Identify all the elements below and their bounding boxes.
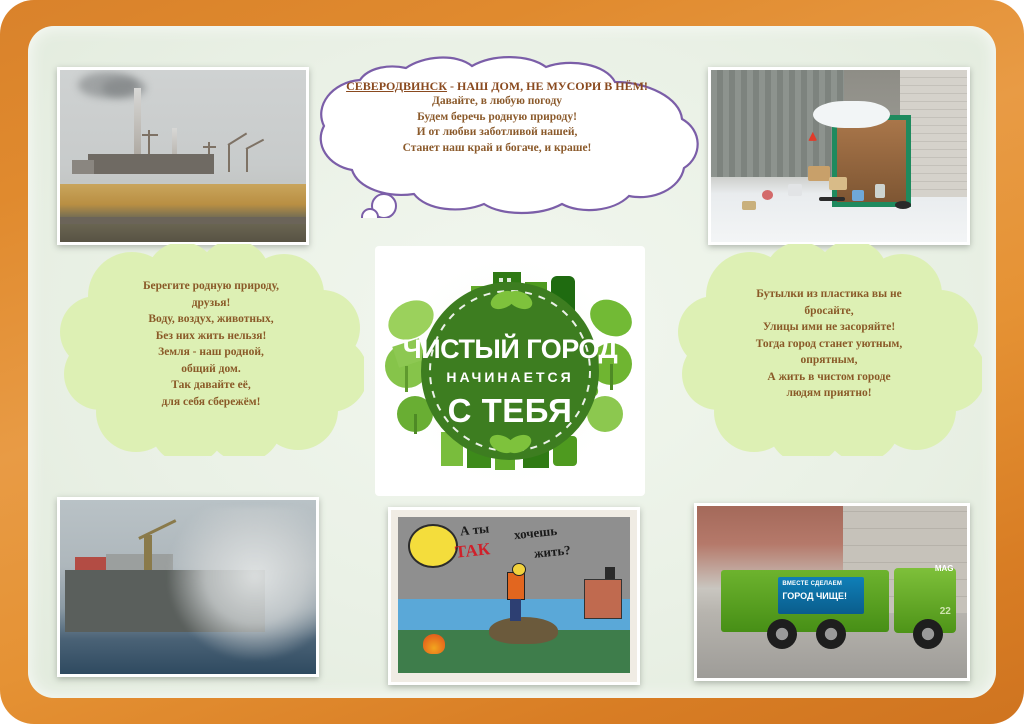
cloud-left-line-1: Берегите родную природу, <box>100 278 322 295</box>
cloud-right-line-2: бросайте, <box>714 303 944 320</box>
green-cloud-left: Берегите родную природу, друзья! Воду, в… <box>58 244 364 456</box>
cloud-left-line-6: общий дом. <box>100 361 322 378</box>
photo-industrial-skyline: Промышленный пейзаж с дымящими трубами <box>57 67 309 245</box>
photo-childrens-drawing: А ты ТАК хочешь жить? Детский рисунок о … <box>388 507 640 685</box>
truck-wheel <box>816 619 846 649</box>
trash-item <box>852 190 864 201</box>
truck-number: 22 <box>940 606 951 617</box>
bubble-line-2: Будем беречь родную природу! <box>336 110 658 126</box>
island <box>489 617 558 645</box>
cloud-left-text: Берегите родную природу, друзья! Воду, в… <box>100 278 322 410</box>
sun-icon <box>408 524 458 568</box>
cloud-left-line-3: Воду, воздух, животных, <box>100 311 322 328</box>
person-body <box>507 572 525 600</box>
cloud-left-line-8: для себя сбережём! <box>100 394 322 411</box>
cloud-right-text: Бутылки из пластика вы не бросайте, Улиц… <box>714 286 944 402</box>
bubble-line-1: Давайте, в любую погоду <box>336 94 658 110</box>
banner-line-2: ГОРОД ЧИЩЕ! <box>782 591 847 601</box>
dry-grass-bank <box>60 184 306 242</box>
logo-line-1: ЧИСТЫЙ ГОРОД <box>375 334 645 365</box>
factory-building <box>72 160 94 174</box>
person-head <box>512 563 526 576</box>
cloud-right-line-1: Бутылки из пластика вы не <box>714 286 944 303</box>
trash-item <box>875 184 885 198</box>
campfire-icon <box>423 634 445 654</box>
harbor-crane <box>228 144 230 172</box>
city-name: СЕВЕРОДВИНСК <box>346 79 447 93</box>
trash-item <box>895 201 911 209</box>
photo-smoking-shipyard: Задымление на судостроительном заводе <box>57 497 319 677</box>
bubble-line-3: И от любви заботливой нашей, <box>336 125 658 141</box>
cloud-right-line-3: Улицы ими не засоряйте! <box>714 319 944 336</box>
truck-wheel <box>767 619 797 649</box>
pylon-arm <box>203 146 216 148</box>
factory-building <box>584 579 622 619</box>
bubble-title-line: СЕВЕРОДВИНСК - НАШ ДОМ, НЕ МУСОРИ В НЁМ! <box>336 78 658 94</box>
brand-label: MAG <box>935 564 954 573</box>
photo-garbage-truck: ВМЕСТЕ СДЕЛАЕМ ГОРОД ЧИЩЕ! MAG 22 Зелёны… <box>694 503 970 681</box>
logo-line-3: С ТЕБЯ <box>375 392 645 430</box>
drawing-text-tak: ТАК <box>454 539 491 563</box>
trash-box <box>829 177 847 190</box>
trash-item <box>742 201 756 210</box>
thought-bubble: СЕВЕРОДВИНСК - НАШ ДОМ, НЕ МУСОРИ В НЁМ!… <box>288 56 706 218</box>
title-rest: - НАШ ДОМ, НЕ МУСОРИ В НЁМ! <box>447 79 648 93</box>
trash-item <box>819 197 845 201</box>
cardboard-cage-bin <box>832 115 911 208</box>
harbor-crane <box>246 148 248 172</box>
pylon-arm <box>142 134 158 136</box>
photo-overflowing-garbage: Переполненные мусорные контейнеры в снег… <box>708 67 970 245</box>
cloud-left-line-2: друзья! <box>100 295 322 312</box>
cloud-right-line-5: опрятным, <box>714 352 944 369</box>
bubble-line-4: Станет наш край и богаче, и краше! <box>336 141 658 157</box>
smoke-cloud <box>168 507 319 660</box>
thought-bubble-text: СЕВЕРОДВИНСК - НАШ ДОМ, НЕ МУСОРИ В НЁМ!… <box>336 78 658 156</box>
trash-bag <box>788 184 802 196</box>
banner-line-1: ВМЕСТЕ СДЕЛАЕМ <box>782 581 842 587</box>
cloud-left-line-7: Так давайте её, <box>100 377 322 394</box>
truck-wheel <box>913 619 943 649</box>
cloud-left-line-5: Земля - наш родной, <box>100 344 322 361</box>
green-cloud-right: Бутылки из пластика вы не бросайте, Улиц… <box>676 244 982 456</box>
logo-line-2: НАЧИНАЕТСЯ <box>375 369 645 385</box>
cloud-right-line-4: Тогда город станет уютным, <box>714 336 944 353</box>
truck-banner: ВМЕСТЕ СДЕЛАЕМ ГОРОД ЧИЩЕ! <box>778 577 864 615</box>
cloud-left-line-4: Без них жить нельзя! <box>100 328 322 345</box>
clean-city-logo: ЧИСТЫЙ ГОРОД НАЧИНАЕТСЯ С ТЕБЯ <box>375 246 645 496</box>
trash-box <box>808 166 830 181</box>
drawing-text-a: А ты <box>459 521 490 540</box>
cloud-right-line-7: людям приятно! <box>714 385 944 402</box>
rail-barrier <box>60 217 306 224</box>
cloud-right-line-6: А жить в чистом городе <box>714 369 944 386</box>
factory-building <box>88 154 214 174</box>
snow-covered-bags <box>813 101 890 129</box>
eco-poster: Промышленный пейзаж с дымящими трубами П… <box>0 0 1024 724</box>
person-legs <box>510 599 521 621</box>
